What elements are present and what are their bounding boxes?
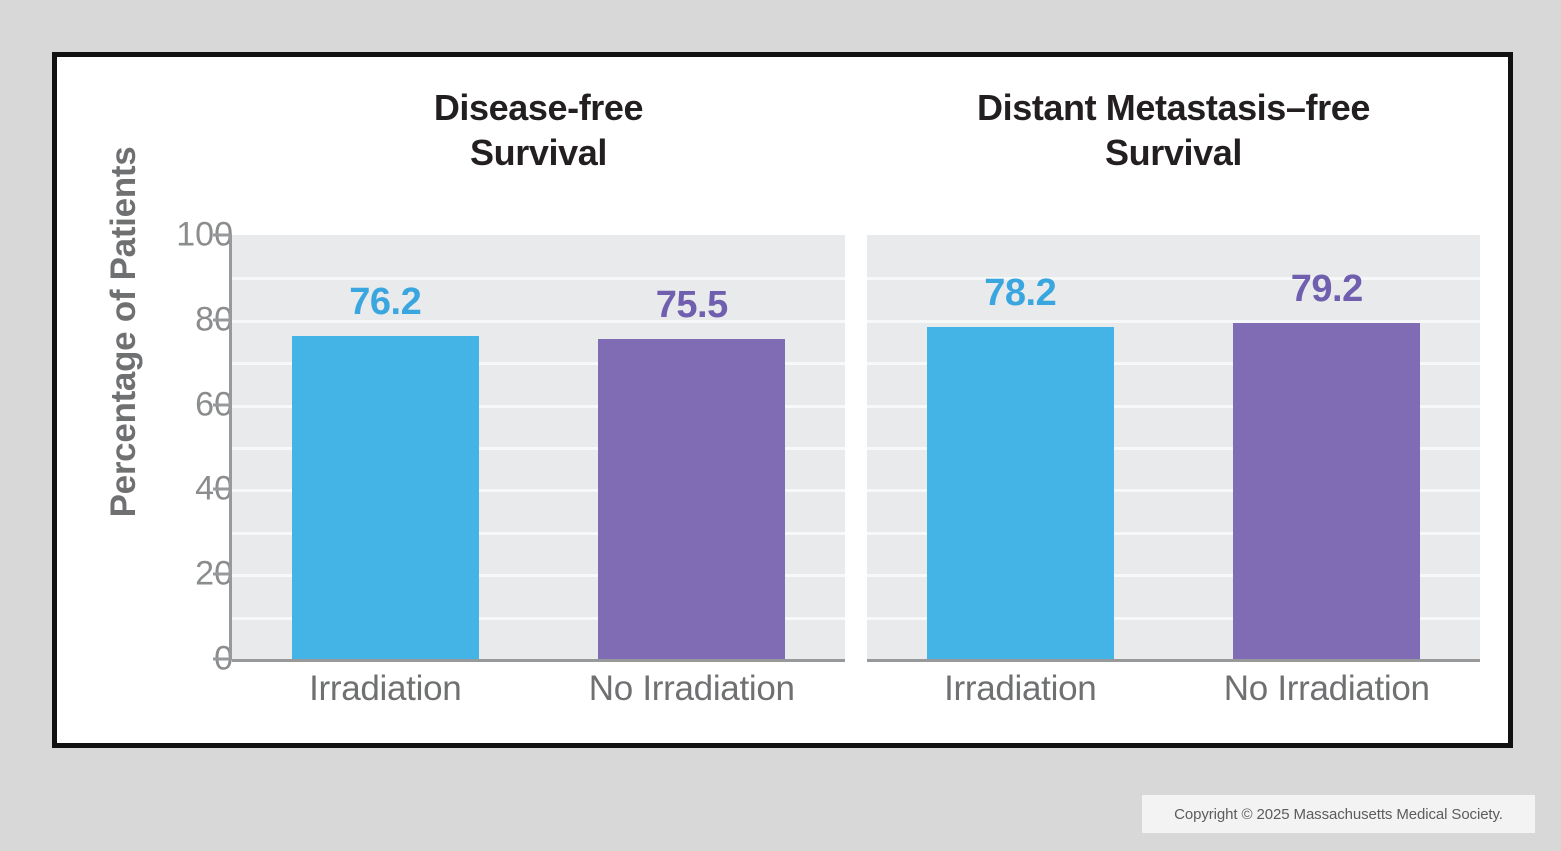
bar-value-label: 78.2 [927,272,1114,315]
copyright-notice: Copyright © 2025 Massachusetts Medical S… [1142,795,1535,833]
bar-no-irradiation[interactable] [598,339,785,659]
panel-title-distant-metastasis-free-survival: Distant Metastasis–freeSurvival [857,85,1490,176]
panel-title-disease-free-survival: Disease-freeSurvival [232,85,845,176]
x-axis-label-no-irradiation: No Irradiation [539,669,846,709]
y-axis-tick-mark [213,403,232,406]
figure-plot-area: Percentage of Patients 020406080100 Dise… [57,57,1508,743]
copyright-text: Copyright © 2025 Massachusetts Medical S… [1174,806,1503,823]
bar-value-label: 76.2 [292,281,479,324]
y-axis-tick-mark [213,488,232,491]
x-axis-label-no-irradiation: No Irradiation [1174,669,1481,709]
bar-irradiation[interactable] [927,327,1114,659]
bar-irradiation[interactable] [292,336,479,659]
bar-value-label: 75.5 [598,284,785,327]
y-axis-tick-mark [213,234,232,237]
y-axis-tick-labels: 020406080100 [137,57,233,743]
x-axis-baseline [867,659,1480,662]
x-axis-baseline [232,659,845,662]
bar-value-label: 79.2 [1233,268,1420,311]
panel-title-line: Distant Metastasis–free [857,85,1490,130]
panel-title-line: Disease-free [232,85,845,130]
x-axis-label-irradiation: Irradiation [867,669,1174,709]
panel-title-line: Survival [857,130,1490,175]
y-axis-tick-mark [213,573,232,576]
y-axis-tick-mark [213,658,232,661]
bar-no-irradiation[interactable] [1233,323,1420,659]
x-axis-label-irradiation: Irradiation [232,669,539,709]
figure-frame: Percentage of Patients 020406080100 Dise… [52,52,1513,748]
panel-title-line: Survival [232,130,845,175]
y-axis-tick-mark [213,318,232,321]
